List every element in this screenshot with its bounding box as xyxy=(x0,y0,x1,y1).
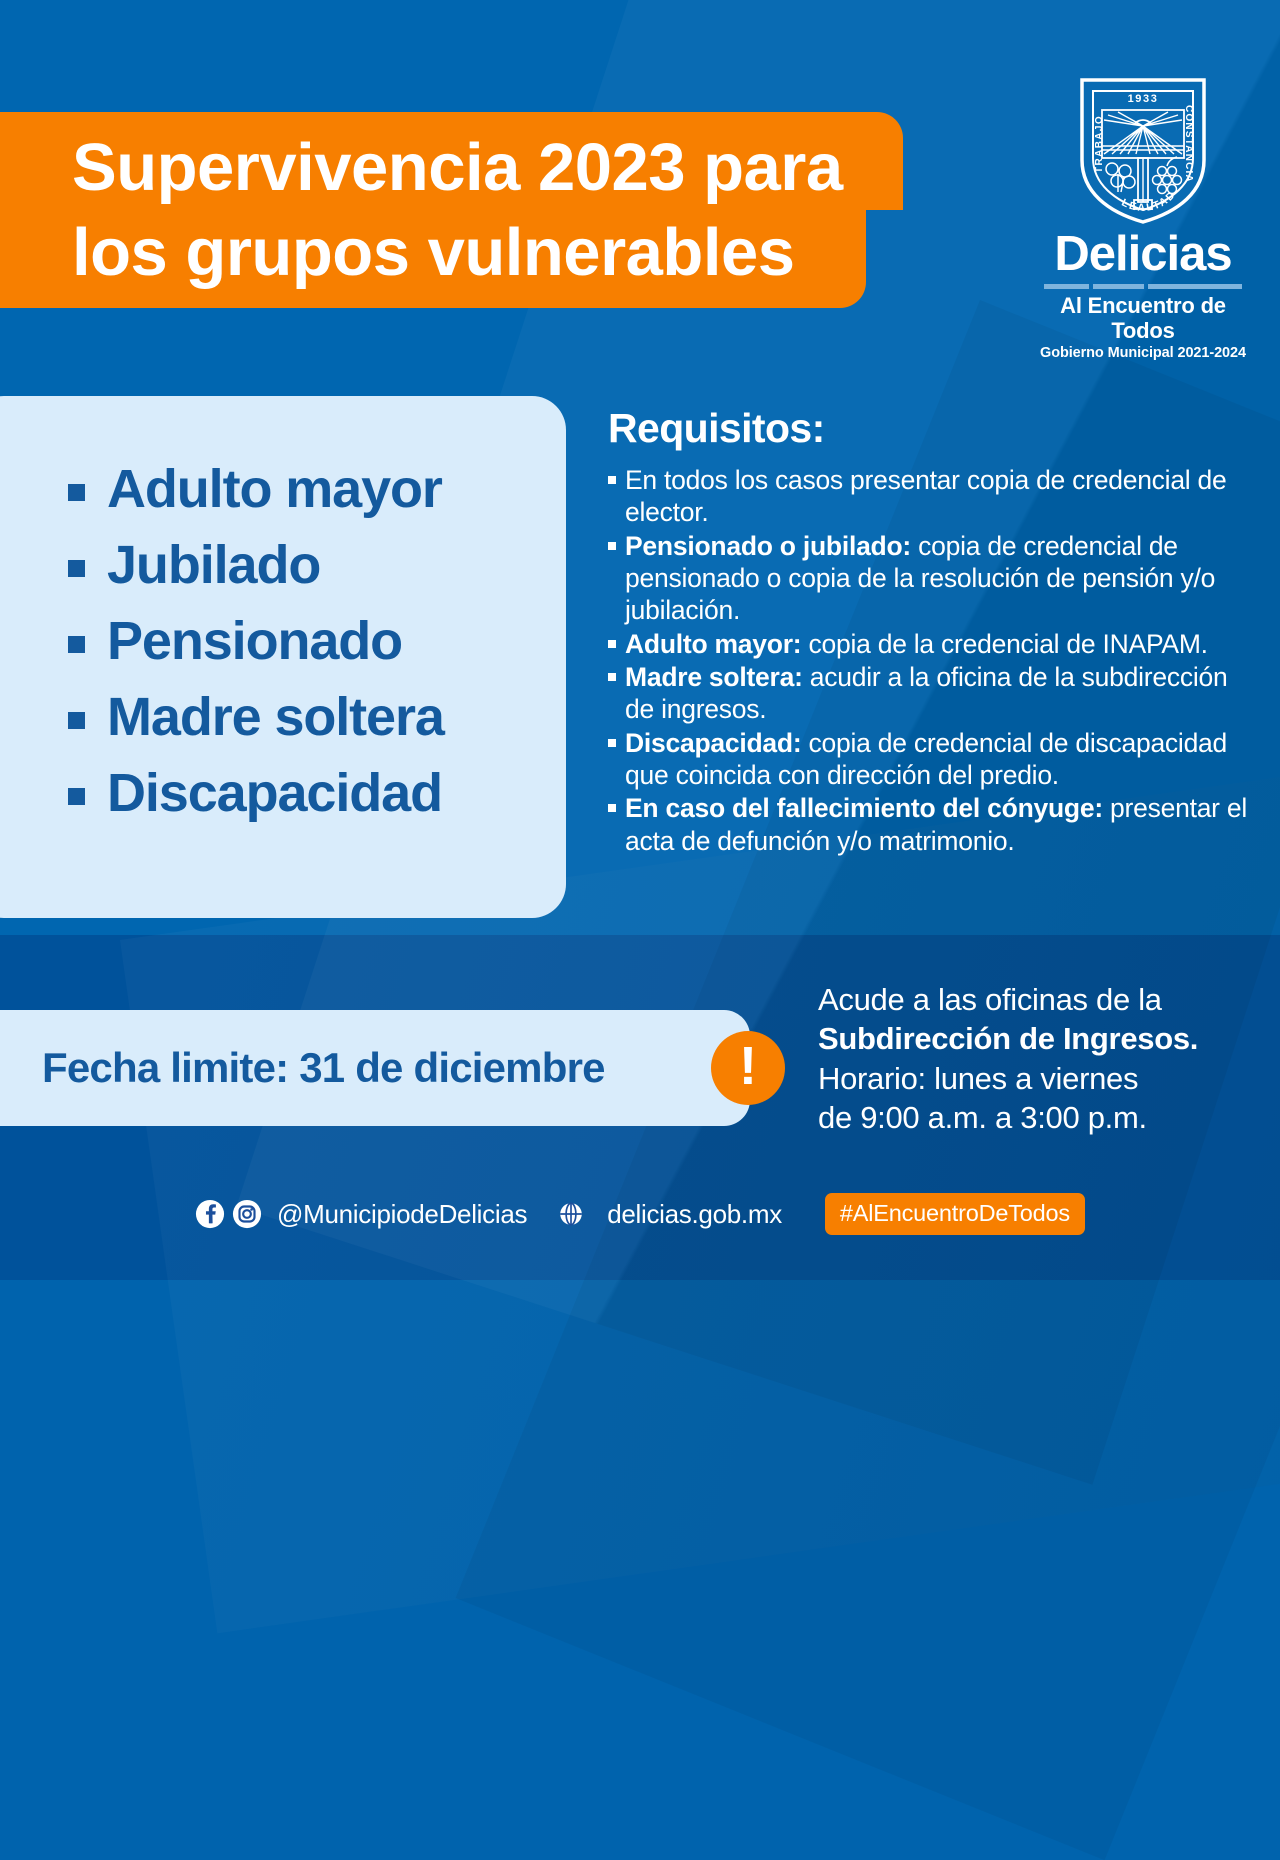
deadline-banner: Fecha limite: 31 de diciembre xyxy=(0,1010,750,1126)
square-bullet-icon xyxy=(608,739,616,747)
hashtag-badge: #AlEncuentroDeTodos xyxy=(825,1193,1085,1235)
instagram-icon[interactable] xyxy=(232,1199,262,1229)
social-handle[interactable]: @MunicipiodeDelicias xyxy=(277,1199,527,1230)
list-item: Pensionado xyxy=(68,614,444,668)
logo-divider xyxy=(1044,284,1242,289)
deadline-text: Fecha limite: 31 de diciembre xyxy=(42,1044,605,1092)
group-label: Adulto mayor xyxy=(107,462,442,516)
group-label: Madre soltera xyxy=(107,690,444,744)
shield-crest-icon: 1933 xyxy=(1074,74,1212,226)
square-bullet-icon xyxy=(68,712,85,729)
requirement-label: Madre soltera: xyxy=(625,662,803,692)
svg-text:1933: 1933 xyxy=(1128,93,1159,105)
list-item: Pensionado o jubilado: copia de credenci… xyxy=(608,530,1253,627)
requirement-label: Adulto mayor: xyxy=(625,629,801,659)
office-line-1: Acude a las oficinas de la xyxy=(818,980,1258,1019)
square-bullet-icon xyxy=(608,804,616,812)
requirement-label: En caso del fallecimiento del cónyuge: xyxy=(625,793,1103,823)
logo-subtitle: Gobierno Municipal 2021-2024 xyxy=(1038,345,1248,361)
svg-text:CONSTANCIA: CONSTANCIA xyxy=(1183,105,1194,183)
municipality-logo: 1933 xyxy=(1038,74,1248,361)
poster-title-line-1: Supervivencia 2023 para xyxy=(0,112,903,210)
office-info: Acude a las oficinas de la Subdirección … xyxy=(818,980,1258,1137)
social-icons xyxy=(195,1199,262,1229)
square-bullet-icon xyxy=(68,636,85,653)
eligible-groups-panel: Adulto mayor Jubilado Pensionado Madre s… xyxy=(0,396,566,918)
square-bullet-icon xyxy=(68,484,85,501)
website-url[interactable]: delicias.gob.mx xyxy=(607,1199,782,1230)
list-item: En caso del fallecimiento del cónyuge: p… xyxy=(608,792,1253,857)
requirements-heading: Requisitos: xyxy=(608,405,1253,452)
list-item: Madre soltera xyxy=(68,690,444,744)
logo-wordmark: Delicias xyxy=(1038,230,1248,280)
list-item: Adulto mayor xyxy=(68,462,444,516)
poster-title-line-2: los grupos vulnerables xyxy=(0,210,866,308)
office-department: Subdirección de Ingresos. xyxy=(818,1021,1198,1056)
square-bullet-icon xyxy=(608,476,616,484)
alert-exclamation-icon: ! xyxy=(711,1031,785,1105)
list-item: Jubilado xyxy=(68,538,444,592)
square-bullet-icon xyxy=(608,640,616,648)
list-item: Discapacidad xyxy=(68,766,444,820)
square-bullet-icon xyxy=(608,542,616,550)
square-bullet-icon xyxy=(68,560,85,577)
square-bullet-icon xyxy=(68,788,85,805)
list-item: En todos los casos presentar copia de cr… xyxy=(608,464,1253,529)
requirements-list: En todos los casos presentar copia de cr… xyxy=(608,464,1253,857)
globe-icon xyxy=(556,1199,586,1229)
requirement-label: Discapacidad: xyxy=(625,728,801,758)
list-item: Adulto mayor: copia de la credencial de … xyxy=(608,628,1253,660)
list-item: Discapacidad: copia de credencial de dis… xyxy=(608,727,1253,792)
logo-tagline: Al Encuentro de Todos xyxy=(1038,294,1248,343)
requirements-section: Requisitos: En todos los casos presentar… xyxy=(608,405,1253,858)
office-hours-value: de 9:00 a.m. a 3:00 p.m. xyxy=(818,1098,1258,1137)
office-hours-label: Horario: lunes a viernes xyxy=(818,1059,1258,1098)
group-label: Pensionado xyxy=(107,614,402,668)
group-label: Jubilado xyxy=(107,538,320,592)
square-bullet-icon xyxy=(608,673,616,681)
title-banner: Supervivencia 2023 para los grupos vulne… xyxy=(0,112,1040,308)
footer-bar: @MunicipiodeDelicias delicias.gob.mx #Al… xyxy=(0,1193,1280,1235)
list-item: Madre soltera: acudir a la oficina de la… xyxy=(608,661,1253,726)
requirement-label: Pensionado o jubilado: xyxy=(625,531,911,561)
svg-text:TRABAJO: TRABAJO xyxy=(1094,115,1105,173)
poster-canvas: Supervivencia 2023 para los grupos vulne… xyxy=(0,0,1280,1280)
requirement-text: En todos los casos presentar copia de cr… xyxy=(625,465,1227,527)
facebook-icon[interactable] xyxy=(195,1199,225,1229)
requirement-text: copia de la credencial de INAPAM. xyxy=(801,629,1207,659)
eligible-groups-list: Adulto mayor Jubilado Pensionado Madre s… xyxy=(68,462,444,820)
group-label: Discapacidad xyxy=(107,766,442,820)
